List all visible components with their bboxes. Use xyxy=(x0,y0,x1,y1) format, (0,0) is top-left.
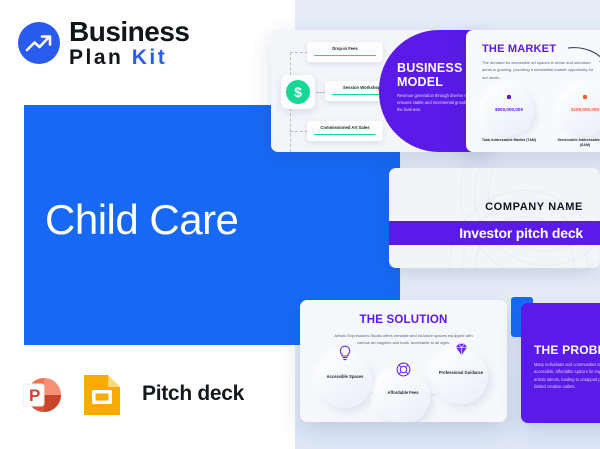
poster-canvas: Business Plan Kit Child Care P P xyxy=(0,0,600,449)
business-model-item-label: Commissioned Art Sales xyxy=(314,125,376,130)
market-stat[interactable]: $150,000,000 Serviceable Addressable Mar… xyxy=(560,86,600,136)
hero-title: Child Care xyxy=(45,196,238,244)
market-stat[interactable]: $500,000,000 Total Addressable Market (T… xyxy=(484,86,534,136)
diagram-connector-bottom xyxy=(290,131,308,132)
market-stat-caption: Serviceable Addressable Market (SAM) xyxy=(553,138,600,149)
pitch-headline: Investor pitch deck xyxy=(459,225,583,241)
market-body: The demand for accessible art spaces in … xyxy=(482,59,597,81)
diamond-icon xyxy=(453,341,469,357)
business-model-title-line2: MODEL xyxy=(397,75,463,89)
format-badges: P Pitch deck xyxy=(18,370,244,418)
item-underline xyxy=(314,55,376,57)
growth-arrow-icon xyxy=(18,22,60,64)
brand-logo-text: Business Plan Kit xyxy=(69,18,190,68)
solution-item[interactable]: Professional Guidance xyxy=(434,350,488,404)
slide-business-model[interactable]: $ Drop-in Fees Session Workshops Commiss… xyxy=(271,30,487,152)
lightbulb-icon xyxy=(337,345,353,361)
brand-logo: Business Plan Kit xyxy=(18,18,190,68)
slide-the-problem[interactable]: THE PROBLEM Many individuals and communi… xyxy=(521,303,600,423)
dollar-circle-icon: $ xyxy=(286,80,310,104)
svg-text:P: P xyxy=(29,386,40,405)
market-stat-value: $500,000,000 xyxy=(484,107,534,112)
coin-icon xyxy=(395,361,411,377)
problem-title: THE PROBLEM xyxy=(534,343,600,357)
dollar-badge: $ xyxy=(281,75,315,109)
stat-dot xyxy=(583,95,587,99)
business-model-title: BUSINESS MODEL xyxy=(397,61,463,90)
brand-logo-line2: Plan Kit xyxy=(69,47,190,68)
solution-item-label: Professional Guidance xyxy=(434,370,488,377)
market-stats: $500,000,000 Total Addressable Market (T… xyxy=(474,86,600,148)
solution-item[interactable]: Affordable Fees xyxy=(376,370,430,422)
problem-body: Many individuals and communities lack ac… xyxy=(534,361,600,390)
solution-title: THE SOLUTION xyxy=(300,314,507,326)
google-slides-icon xyxy=(80,371,126,417)
market-stat-caption: Total Addressable Market (TAM) xyxy=(477,138,541,143)
powerpoint-icon: P xyxy=(18,370,66,418)
slide-the-solution[interactable]: THE SOLUTION Artistic Expressions Studio… xyxy=(300,300,507,422)
brand-logo-kit: Kit xyxy=(132,46,168,69)
business-model-item[interactable]: Commissioned Art Sales xyxy=(307,121,383,141)
market-stat-value: $150,000,000 xyxy=(560,107,600,112)
pitch-headline-bar: Investor pitch deck xyxy=(389,221,600,245)
item-underline xyxy=(314,134,376,136)
diagram-connector-top xyxy=(290,52,308,53)
slide-investor-pitch-deck[interactable]: COMPANY NAME Investor pitch deck xyxy=(389,168,600,268)
solution-item[interactable]: Accessible Spaces xyxy=(318,354,372,408)
brand-logo-plan: Plan xyxy=(69,46,132,69)
market-title: THE MARKET xyxy=(482,43,556,55)
solution-item-label: Affordable Fees xyxy=(376,390,430,397)
business-model-title-line1: BUSINESS xyxy=(397,61,463,75)
solution-item-label: Accessible Spaces xyxy=(318,374,372,381)
brand-logo-line1: Business xyxy=(69,18,190,46)
business-model-item[interactable]: Drop-in Fees xyxy=(307,42,383,62)
slide-the-market[interactable]: THE MARKET The demand for accessible art… xyxy=(466,30,600,152)
stat-dot xyxy=(507,95,511,99)
business-model-item-label: Drop-in Fees xyxy=(314,46,376,51)
format-label: Pitch deck xyxy=(142,382,244,406)
pitch-company-name: COMPANY NAME xyxy=(485,201,583,213)
